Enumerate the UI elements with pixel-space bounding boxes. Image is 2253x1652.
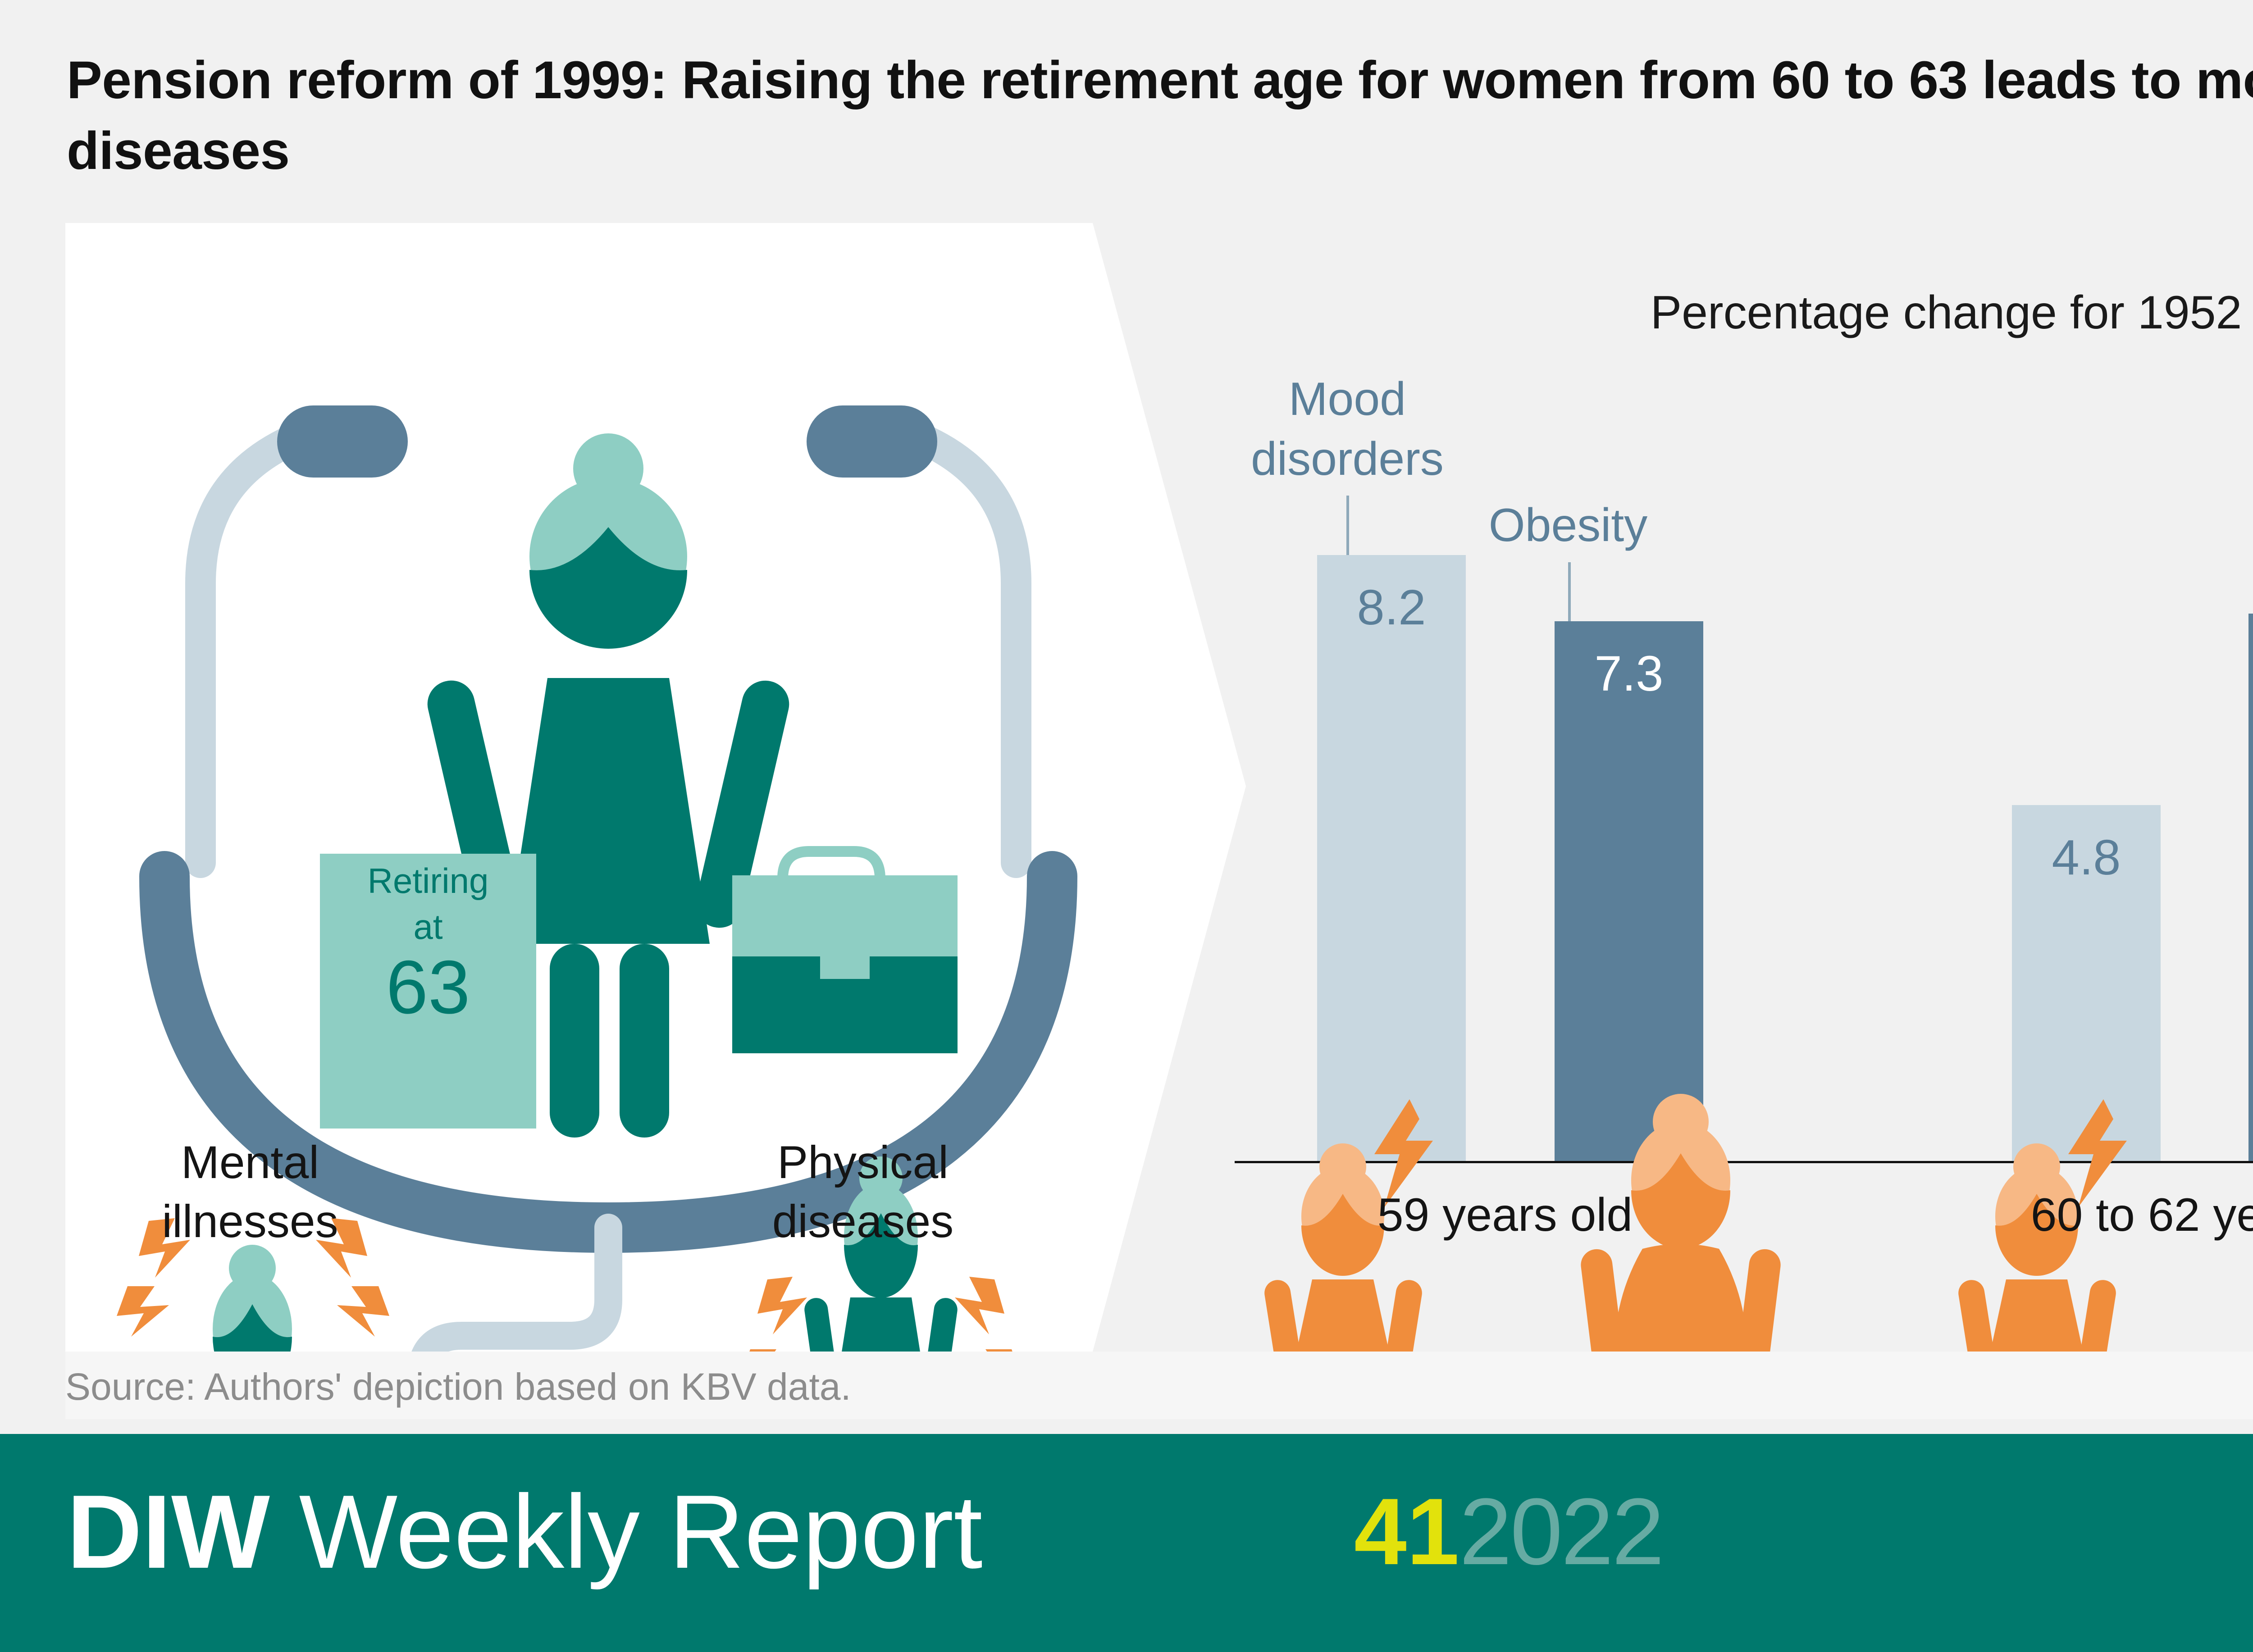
- source-note: Source: Authors' depiction based on KBV …: [65, 1365, 851, 1409]
- bar-value-obesity-59: 7.3: [1555, 649, 1703, 699]
- category-label-59: 59 years old: [1257, 1192, 1753, 1238]
- legend-mood-disorders: Mood disorders: [1221, 369, 1473, 489]
- physical-diseases-label: Physical diseases: [723, 1133, 1003, 1251]
- illustration-panel: Retiring at 63 Mental illnesses Physical…: [65, 223, 1246, 1352]
- legend-mood-disorders-line1: Mood: [1221, 369, 1473, 429]
- footer-issue-number: 41: [1354, 1479, 1459, 1584]
- physical-diseases-label-line1: Physical: [723, 1133, 1003, 1192]
- bar-mood-disorders-59[interactable]: 8.2: [1317, 555, 1466, 1161]
- footer-issue: 412022: [1354, 1484, 1663, 1579]
- bar-value-mood-59: 8.2: [1317, 583, 1466, 633]
- category-label-60-62: 60 to 62 years old: [1947, 1192, 2253, 1238]
- bar-value-obesity-60-62: 7.4: [2248, 642, 2253, 691]
- mental-illnesses-label: Mental illnesses: [110, 1133, 390, 1251]
- footer-issue-year: 2022: [1459, 1479, 1663, 1584]
- legend-obesity: Obesity: [1442, 496, 1694, 555]
- mental-illnesses-label-line1: Mental: [110, 1133, 390, 1192]
- bar-chart: Percentage change for 1952 cohorts vs. 1…: [1190, 234, 2253, 1388]
- footer-brand-bold: DIW: [67, 1474, 270, 1590]
- legend-mood-disorders-line2: disorders: [1221, 429, 1473, 489]
- retiring-badge-line2: at: [320, 908, 536, 946]
- source-strip: Source: Authors' depiction based on KBV …: [65, 1352, 2253, 1419]
- chart-subtitle: Percentage change for 1952 cohorts vs. 1…: [1190, 286, 2253, 340]
- footer-brand: DIW Weekly Report: [67, 1480, 983, 1584]
- bar-obesity-60-62[interactable]: 7.4: [2248, 614, 2253, 1161]
- stethoscope-left-tube: [201, 435, 304, 863]
- stethoscope-right-tube: [912, 435, 1016, 863]
- retiring-badge-line1: Retiring: [320, 862, 536, 900]
- physical-diseases-label-line2: diseases: [723, 1192, 1003, 1251]
- stethoscope-earpiece-right: [807, 405, 937, 478]
- retiring-badge-age: 63: [320, 949, 536, 1025]
- mental-illnesses-label-line2: illnesses: [110, 1192, 390, 1251]
- page-title: Pension reform of 1999: Raising the reti…: [67, 45, 2253, 187]
- footer-bar: DIW Weekly Report 412022 DIW BERLIN: [0, 1434, 2253, 1652]
- bar-value-mood-60-62: 4.8: [2012, 833, 2161, 883]
- footer-brand-rest: Weekly Report: [270, 1474, 983, 1590]
- stethoscope-earpiece-left: [277, 405, 408, 478]
- briefcase-icon: [732, 851, 958, 1053]
